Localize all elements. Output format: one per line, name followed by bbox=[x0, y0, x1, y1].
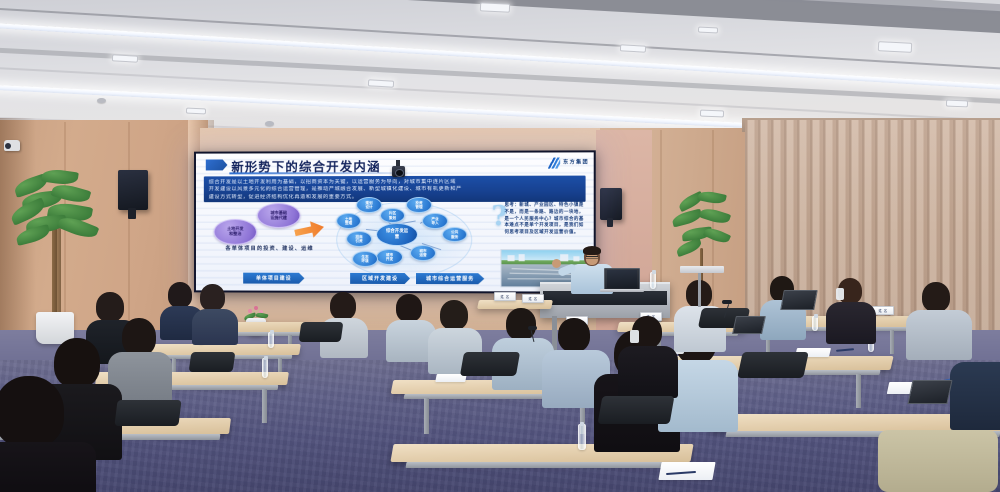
slide-summary-banner: 综合开发是以土地开发利用为基础，以招商资本为关键，以运营服务为导向，对城市集中连… bbox=[204, 176, 586, 203]
audience-laptop[interactable] bbox=[907, 380, 952, 404]
chair[interactable] bbox=[189, 352, 236, 372]
logo-mark-icon bbox=[543, 157, 560, 168]
microphone[interactable] bbox=[528, 326, 537, 330]
audience-laptop[interactable] bbox=[732, 316, 766, 334]
diagram-node-city-ops: 城市运营 bbox=[410, 245, 436, 261]
photo-building bbox=[573, 256, 579, 261]
diagram-node-attract: 招商引资 bbox=[346, 231, 372, 247]
company-logo: 东 方 集 团 bbox=[543, 157, 588, 168]
presenter-hair bbox=[583, 246, 601, 255]
speaker-bracket bbox=[607, 218, 613, 227]
presenter-laptop-base[interactable] bbox=[600, 289, 644, 292]
smoke-detector-icon bbox=[97, 98, 106, 103]
chair[interactable] bbox=[460, 352, 520, 376]
ceiling-downlight bbox=[112, 54, 138, 62]
diagram-node-planning: 规划设计 bbox=[356, 197, 382, 213]
name-placard: 姓 名 bbox=[494, 292, 516, 301]
diagram-node-land-arrange: 土地整理 bbox=[336, 213, 361, 229]
diagram-node-infrastructure: 城市基础设施代建 bbox=[257, 203, 300, 228]
ceiling-downlight bbox=[186, 108, 206, 115]
water-bottle[interactable] bbox=[650, 272, 656, 289]
diagram-node-investment: 投资管理 bbox=[406, 197, 432, 213]
chair[interactable] bbox=[299, 322, 344, 342]
chevron-regional-development: 区域开发建设 bbox=[350, 273, 410, 284]
diagram-node-strategy: 片区策划 bbox=[380, 208, 405, 223]
conference-room-scene: 新形势下的综合开发内涵 东 方 集 团 综合开发是以土地开发利用为基础，以招商资… bbox=[0, 0, 1000, 492]
wall-speaker-left bbox=[118, 170, 148, 210]
audience-laptop[interactable] bbox=[780, 290, 818, 310]
name-placard: 姓 名 bbox=[522, 294, 544, 303]
ceiling-downlight bbox=[946, 100, 968, 108]
logo-text: 东 方 集 团 bbox=[563, 160, 588, 166]
smoke-detector-icon bbox=[265, 121, 274, 126]
banner-line: 建设方式转型，促进经济结构优化再造和发展的重要方式。 bbox=[209, 194, 581, 202]
speaker-bracket bbox=[128, 208, 136, 219]
chevron-city-operation: 城市综合运营服务 bbox=[416, 273, 484, 284]
wall-speaker-right bbox=[600, 188, 622, 220]
presenter-laptop-screen bbox=[607, 270, 637, 288]
slide-side-note: 思考：新城、产业园区、特色小镇是不是，而是一条路、路边的一块地，是一个人民服务中… bbox=[504, 203, 585, 237]
diagram-node-public-service: 公共服务 bbox=[442, 227, 467, 242]
ceiling-downlight bbox=[480, 2, 510, 13]
chevron-single-project: 单体项目建设 bbox=[243, 273, 304, 284]
chair[interactable] bbox=[737, 352, 809, 378]
chair[interactable] bbox=[114, 400, 181, 426]
water-bottle[interactable] bbox=[268, 332, 274, 348]
ceiling-downlight bbox=[700, 110, 724, 118]
presenter-hand bbox=[552, 259, 561, 268]
water-bottle[interactable] bbox=[262, 358, 268, 378]
photo-building bbox=[560, 255, 568, 262]
room-camera-icon[interactable] bbox=[392, 166, 405, 177]
ceiling-downlight bbox=[698, 26, 718, 33]
photo-building bbox=[519, 254, 525, 261]
diagram-node-ecology: 生态环境 bbox=[352, 251, 378, 267]
water-bottle[interactable] bbox=[812, 316, 818, 331]
diagram-node-industry: 产业导入 bbox=[422, 213, 448, 229]
chair[interactable] bbox=[598, 396, 675, 424]
water-bottle[interactable] bbox=[578, 424, 586, 450]
diagram-node-center: 综合开发运营 bbox=[376, 223, 418, 246]
ceiling-downlight bbox=[878, 41, 912, 53]
slide-caption-left: 各单体项目的投资、建设、运维 bbox=[225, 245, 313, 252]
diagram-node-city-dev: 城市开发 bbox=[376, 249, 403, 265]
presenter-glasses bbox=[586, 256, 598, 259]
security-camera-icon bbox=[4, 140, 20, 151]
ceiling-downlight bbox=[368, 79, 394, 87]
ceiling-downlight bbox=[620, 44, 646, 52]
diagram-node-land-development: 土地开发和整治 bbox=[214, 219, 257, 245]
photo-building bbox=[508, 255, 515, 261]
microphone[interactable] bbox=[722, 300, 732, 304]
